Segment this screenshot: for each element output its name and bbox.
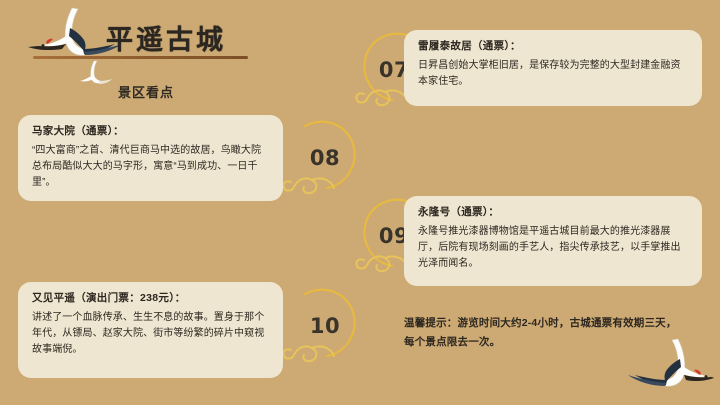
- crane-bird-small-icon: [78, 60, 112, 86]
- card-ma-jia-da-yuan[interactable]: 马家大院（通票）： “四大富商”之首、清代巨商马中选的故居，鸟瞰大院总布局酷似大…: [18, 115, 283, 201]
- poster-canvas: 平遥古城 景区看点 07 雷履泰故居（通票）： 日昇昌创始大掌柜旧居，是保存较为…: [0, 0, 720, 405]
- card-yong-long-hao[interactable]: 永隆号（通票）： 永隆号推光漆器博物馆是平遥古城目前最大的推光漆器展厅，后院有现…: [404, 196, 702, 286]
- page-subtitle: 景区看点: [118, 82, 174, 101]
- badge-number: 10: [283, 278, 367, 374]
- card-you-jian-ping-yao[interactable]: 又见平遥（演出门票：238元）： 讲述了一个血脉传承、生生不息的故事。置身于那个…: [18, 282, 283, 378]
- card-body: 永隆号推光漆器博物馆是平遥古城目前最大的推光漆器展厅，后院有现场刻画的手艺人，指…: [418, 224, 688, 273]
- page-title: 平遥古城: [106, 18, 226, 57]
- card-title: 永隆号（通票）：: [418, 205, 688, 221]
- card-body: 讲述了一个血脉传承、生生不息的故事。置身于那个年代，从镖局、赵家大院、街市等纷繁…: [32, 310, 269, 359]
- card-title: 又见平遥（演出门票：238元）：: [32, 291, 269, 307]
- card-title: 雷履泰故居（通票）：: [418, 39, 688, 55]
- number-badge-10: 10: [283, 278, 367, 374]
- crane-bird-corner-icon: [622, 337, 714, 399]
- poster-header: 平遥古城 景区看点: [0, 0, 340, 105]
- card-body: 日昇昌创始大掌柜旧居，是保存较为完整的大型封建金融资本家住宅。: [418, 58, 688, 90]
- title-underline: [33, 56, 248, 59]
- card-lei-lv-tai[interactable]: 雷履泰故居（通票）： 日昇昌创始大掌柜旧居，是保存较为完整的大型封建金融资本家住…: [404, 30, 702, 106]
- card-body: “四大富商”之首、清代巨商马中选的故居，鸟瞰大院总布局酷似大大的马字形，寓意“马…: [32, 143, 269, 192]
- card-title: 马家大院（通票）：: [32, 124, 269, 140]
